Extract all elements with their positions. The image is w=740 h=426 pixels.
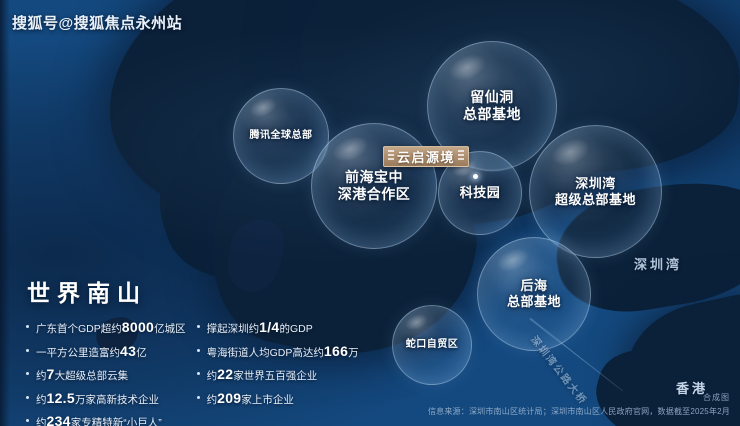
bubble-label: 腾讯全球总部 [250,130,313,142]
stat-suffix: 亿 [136,347,147,359]
page-title: 世界南山 [27,274,365,308]
map-marker-dot-icon [473,174,478,179]
stat-prefix: 撑起深圳约 [207,323,260,335]
stat-prefix: 约 [207,394,218,406]
map-bubble-shekou-free-trade-zone[interactable]: 蛇口自贸区 [392,305,472,385]
map-bubble-houhai-hq-base[interactable]: 后海总部基地 [477,237,591,351]
stat-number: 22 [217,366,233,382]
stat-item: 约12.5万家高新技术企业 [25,390,186,407]
stat-item: 约209家上市企业 [196,390,359,407]
stat-suffix: 的GDP [280,323,313,335]
stat-prefix: 约 [36,394,47,406]
stat-prefix: 约 [36,370,47,382]
bubble-label: 蛇口自贸区 [406,339,459,351]
stat-suffix: 亿城区 [154,323,186,335]
infographic-canvas: 腾讯全球总部 留仙洞总部基地 前海宝中深港合作区 科技园 深圳湾超级总部基地 后… [0,0,740,426]
stat-number: 166 [324,343,348,359]
project-tag-label: 云启源境 [397,147,455,166]
stat-number: 12.5 [47,390,75,406]
bubble-label: 深圳湾超级总部基地 [555,176,636,208]
bubble-label: 科技园 [460,185,501,201]
stat-suffix: 家世界五百强企业 [233,370,317,382]
stat-item: 约22家世界五百强企业 [196,366,359,383]
stat-prefix: 约 [207,370,218,382]
statistics-lists: 广东首个GDP超约8000亿城区一平方公里造富约43亿约7大超级总部云集约12.… [25,319,365,426]
stat-prefix: 广东首个GDP超约 [36,323,122,335]
geo-label-shenzhen-bay: 深圳湾 [634,254,682,273]
bubble-label: 前海宝中深港合作区 [338,169,411,203]
statistics-column-left: 广东首个GDP超约8000亿城区一平方公里造富约43亿约7大超级总部云集约12.… [25,319,186,426]
stat-number: 7 [47,366,55,382]
project-location-tag[interactable]: 云启源境 [383,146,469,167]
tag-ornament-left-icon [388,150,394,163]
stat-item: 撑起深圳约1/4的GDP [196,319,359,336]
stat-number: 209 [217,390,241,406]
tag-ornament-right-icon [458,150,464,163]
stat-item: 广东首个GDP超约8000亿城区 [25,319,186,336]
info-panel: 世界南山 广东首个GDP超约8000亿城区一平方公里造富约43亿约7大超级总部云… [25,274,365,426]
stat-item: 一平方公里造富约43亿 [25,343,186,360]
stat-item: 粤海街道人均GDP高达约166万 [196,343,359,360]
stat-suffix: 万 [348,347,359,359]
stat-suffix: 万家高新技术企业 [75,394,159,406]
stat-suffix: 大超级总部云集 [55,370,129,382]
left-edge-shadow [0,0,10,426]
stat-prefix: 约 [36,417,47,426]
bubble-label: 留仙洞总部基地 [463,89,521,123]
composite-image-note: 合成图 [703,392,730,403]
stat-suffix: 家专精特新“小巨人” [71,417,162,426]
bubble-label: 后海总部基地 [507,278,561,310]
stat-number: 1/4 [259,319,279,335]
stat-suffix: 家上市企业 [241,394,294,406]
source-note: 信息来源：深圳市南山区统计局；深圳市南山区人民政府官网，数据截至2025年2月 [428,406,730,417]
stat-prefix: 粤海街道人均GDP高达约 [207,347,324,359]
statistics-column-right: 撑起深圳约1/4的GDP粤海街道人均GDP高达约166万约22家世界五百强企业约… [196,319,359,426]
stat-number: 8000 [122,319,154,335]
map-bubble-qianhai-baozhong-zone[interactable]: 前海宝中深港合作区 [311,123,437,249]
stat-item: 约7大超级总部云集 [25,366,186,383]
stat-number: 43 [120,343,136,359]
stat-number: 234 [47,413,71,426]
stat-item: 约234家专精特新“小巨人” [25,413,186,426]
stat-prefix: 一平方公里造富约 [36,347,120,359]
watermark-label: 搜狐号@搜狐焦点永州站 [12,12,182,33]
